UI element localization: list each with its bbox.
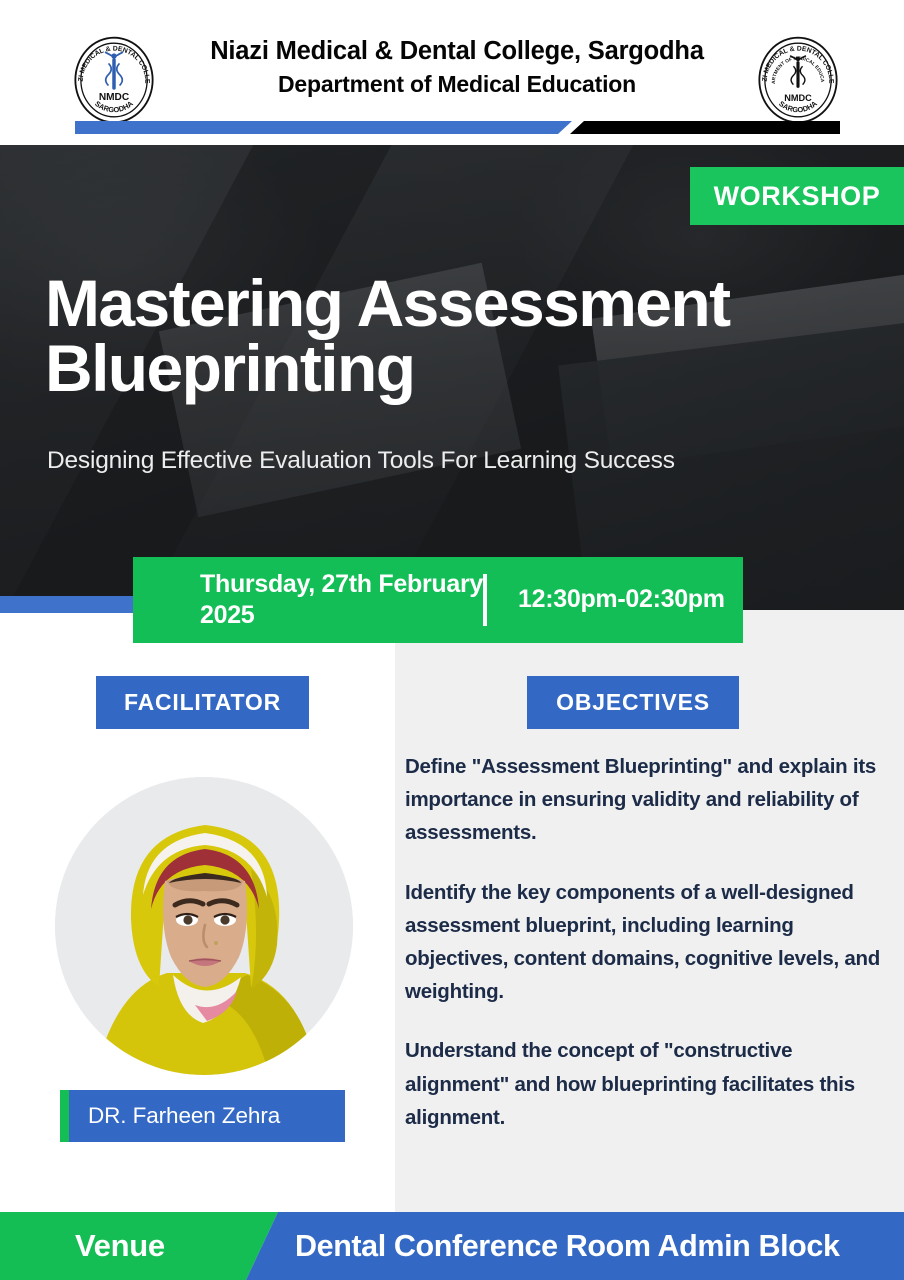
- poster-header: NIAZI MEDICAL & DENTAL COLLEGE SARGODHA …: [0, 0, 904, 145]
- svg-text:NMDC: NMDC: [784, 93, 812, 103]
- header-rule-black: [570, 121, 840, 134]
- facilitator-name: DR. Farheen Zehra: [69, 1103, 280, 1129]
- venue-label-block: Venue: [0, 1212, 278, 1280]
- workshop-poster: NIAZI MEDICAL & DENTAL COLLEGE SARGODHA …: [0, 0, 904, 1280]
- svg-text:NMDC: NMDC: [99, 92, 130, 103]
- nmdc-college-seal-icon: NIAZI MEDICAL & DENTAL COLLEGE SARGODHA …: [68, 34, 160, 126]
- objective-item: Understand the concept of "constructive …: [405, 1034, 885, 1134]
- header-title-group: Niazi Medical & Dental College, Sargodha…: [170, 36, 744, 99]
- workshop-badge: WORKSHOP: [690, 167, 904, 225]
- dme-department-seal-icon: NIAZI MEDICAL & DENTAL COLLEGE DEPARTMEN…: [752, 34, 844, 126]
- facilitator-badge-label: FACILITATOR: [124, 689, 281, 716]
- department-name: Department of Medical Education: [170, 70, 744, 99]
- venue-value: Dental Conference Room Admin Block: [246, 1229, 840, 1264]
- organization-name: Niazi Medical & Dental College, Sargodha: [170, 36, 744, 66]
- schedule-time: 12:30pm-02:30pm: [487, 584, 725, 616]
- facilitator-avatar: [55, 777, 353, 1075]
- objectives-badge-label: OBJECTIVES: [556, 689, 710, 716]
- name-accent-stripe: [60, 1090, 69, 1142]
- venue-label: Venue: [0, 1228, 165, 1264]
- objective-item: Identify the key components of a well-de…: [405, 876, 885, 1009]
- objectives-badge: OBJECTIVES: [527, 676, 739, 729]
- accent-stripe-blue: [0, 596, 136, 613]
- venue-value-block: Dental Conference Room Admin Block: [246, 1212, 904, 1280]
- workshop-badge-label: WORKSHOP: [714, 181, 881, 212]
- poster-footer: Venue Dental Conference Room Admin Block: [0, 1212, 904, 1280]
- objectives-list: Define "Assessment Blueprinting" and exp…: [405, 750, 885, 1134]
- header-rule-blue: [75, 121, 572, 134]
- poster-title: Mastering Assessment Blueprinting: [45, 271, 875, 402]
- facilitator-name-bar: DR. Farheen Zehra: [60, 1090, 345, 1142]
- poster-subtitle: Designing Effective Evaluation Tools For…: [47, 447, 867, 475]
- schedule-band: Thursday, 27th February 2025 12:30pm-02:…: [133, 557, 743, 643]
- facilitator-badge: FACILITATOR: [96, 676, 309, 729]
- objective-item: Define "Assessment Blueprinting" and exp…: [405, 750, 885, 850]
- schedule-date: Thursday, 27th February 2025: [133, 569, 483, 632]
